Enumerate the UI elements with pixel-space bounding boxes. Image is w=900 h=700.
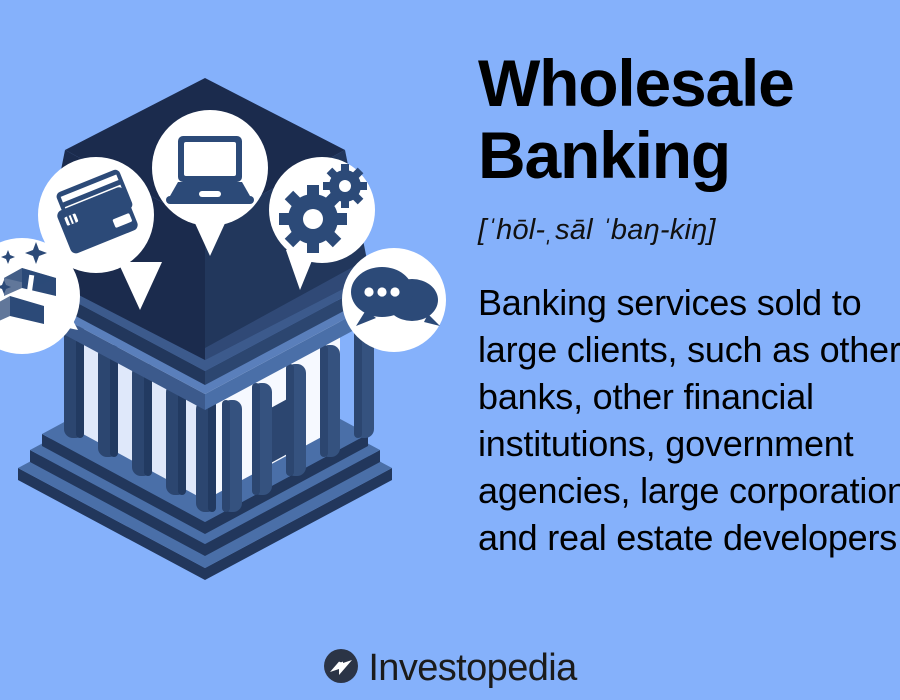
laptop-icon bbox=[166, 136, 254, 204]
footer: Investopedia bbox=[0, 636, 900, 700]
brand-logo[interactable]: Investopedia bbox=[323, 648, 576, 689]
brand-name: Investopedia bbox=[368, 649, 576, 687]
bank-illustration bbox=[0, 0, 470, 640]
definition-panel: Wholesale Banking [ˈhōl-ˌsāl ˈbaŋ-kiŋ] B… bbox=[478, 48, 900, 561]
pronunciation: [ˈhōl-ˌsāl ˈbaŋ-kiŋ] bbox=[478, 214, 900, 247]
definition-line: institutions, government bbox=[478, 420, 900, 467]
definition-line: Banking services sold to bbox=[478, 279, 900, 326]
definition-line: banks, other financial bbox=[478, 373, 900, 420]
infographic-card: Wholesale Banking [ˈhōl-ˌsāl ˈbaŋ-kiŋ] B… bbox=[0, 0, 900, 700]
bubble-chat bbox=[342, 248, 446, 352]
definition-line: and real estate developers. bbox=[478, 514, 900, 561]
page-title: Wholesale Banking bbox=[478, 48, 900, 192]
definition-line: agencies, large corporations, bbox=[478, 467, 900, 514]
definition-line: large clients, such as other bbox=[478, 326, 900, 373]
definition-text: Banking services sold to large clients, … bbox=[478, 279, 900, 561]
investopedia-logo-icon bbox=[323, 648, 359, 689]
